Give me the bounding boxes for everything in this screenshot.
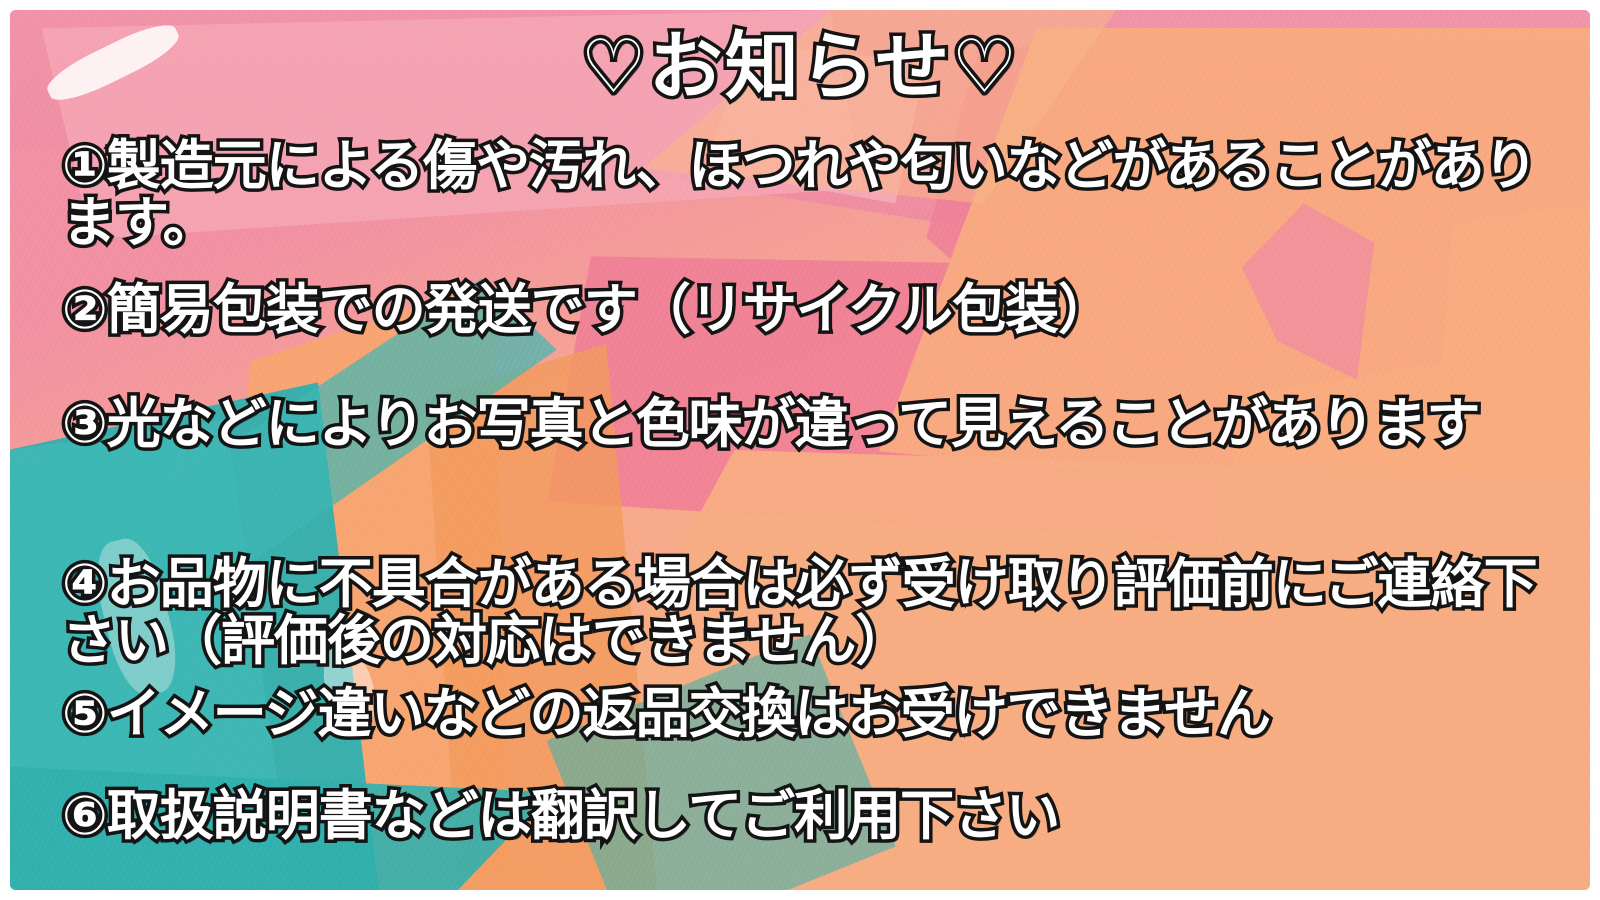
notice-item-3: ③光などによりお写真と色味が違って見えることがあります bbox=[62, 396, 1562, 453]
notice-item-4: ④お品物に不具合がある場合は必ず受け取り評価前にご連絡下さい（評価後の対応はでき… bbox=[62, 556, 1562, 670]
notice-frame: ♡お知らせ♡ ①製造元による傷や汚れ、ほつれや匂いなどがあることがあります。 ②… bbox=[10, 10, 1590, 890]
notice-item-5: ⑤イメージ違いなどの返品交換はお受けできません bbox=[62, 686, 1562, 743]
notice-content: ♡お知らせ♡ ①製造元による傷や汚れ、ほつれや匂いなどがあることがあります。 ②… bbox=[10, 10, 1590, 890]
notice-title: ♡お知らせ♡ bbox=[10, 30, 1590, 104]
notice-item-6: ⑥取扱説明書などは翻訳してご利用下さい bbox=[62, 788, 1562, 845]
notice-item-2: ②簡易包装での発送です（リサイクル包装） bbox=[62, 282, 1562, 339]
notice-graphic: ♡お知らせ♡ ①製造元による傷や汚れ、ほつれや匂いなどがあることがあります。 ②… bbox=[0, 0, 1600, 900]
notice-item-1: ①製造元による傷や汚れ、ほつれや匂いなどがあることがあります。 bbox=[62, 138, 1562, 252]
